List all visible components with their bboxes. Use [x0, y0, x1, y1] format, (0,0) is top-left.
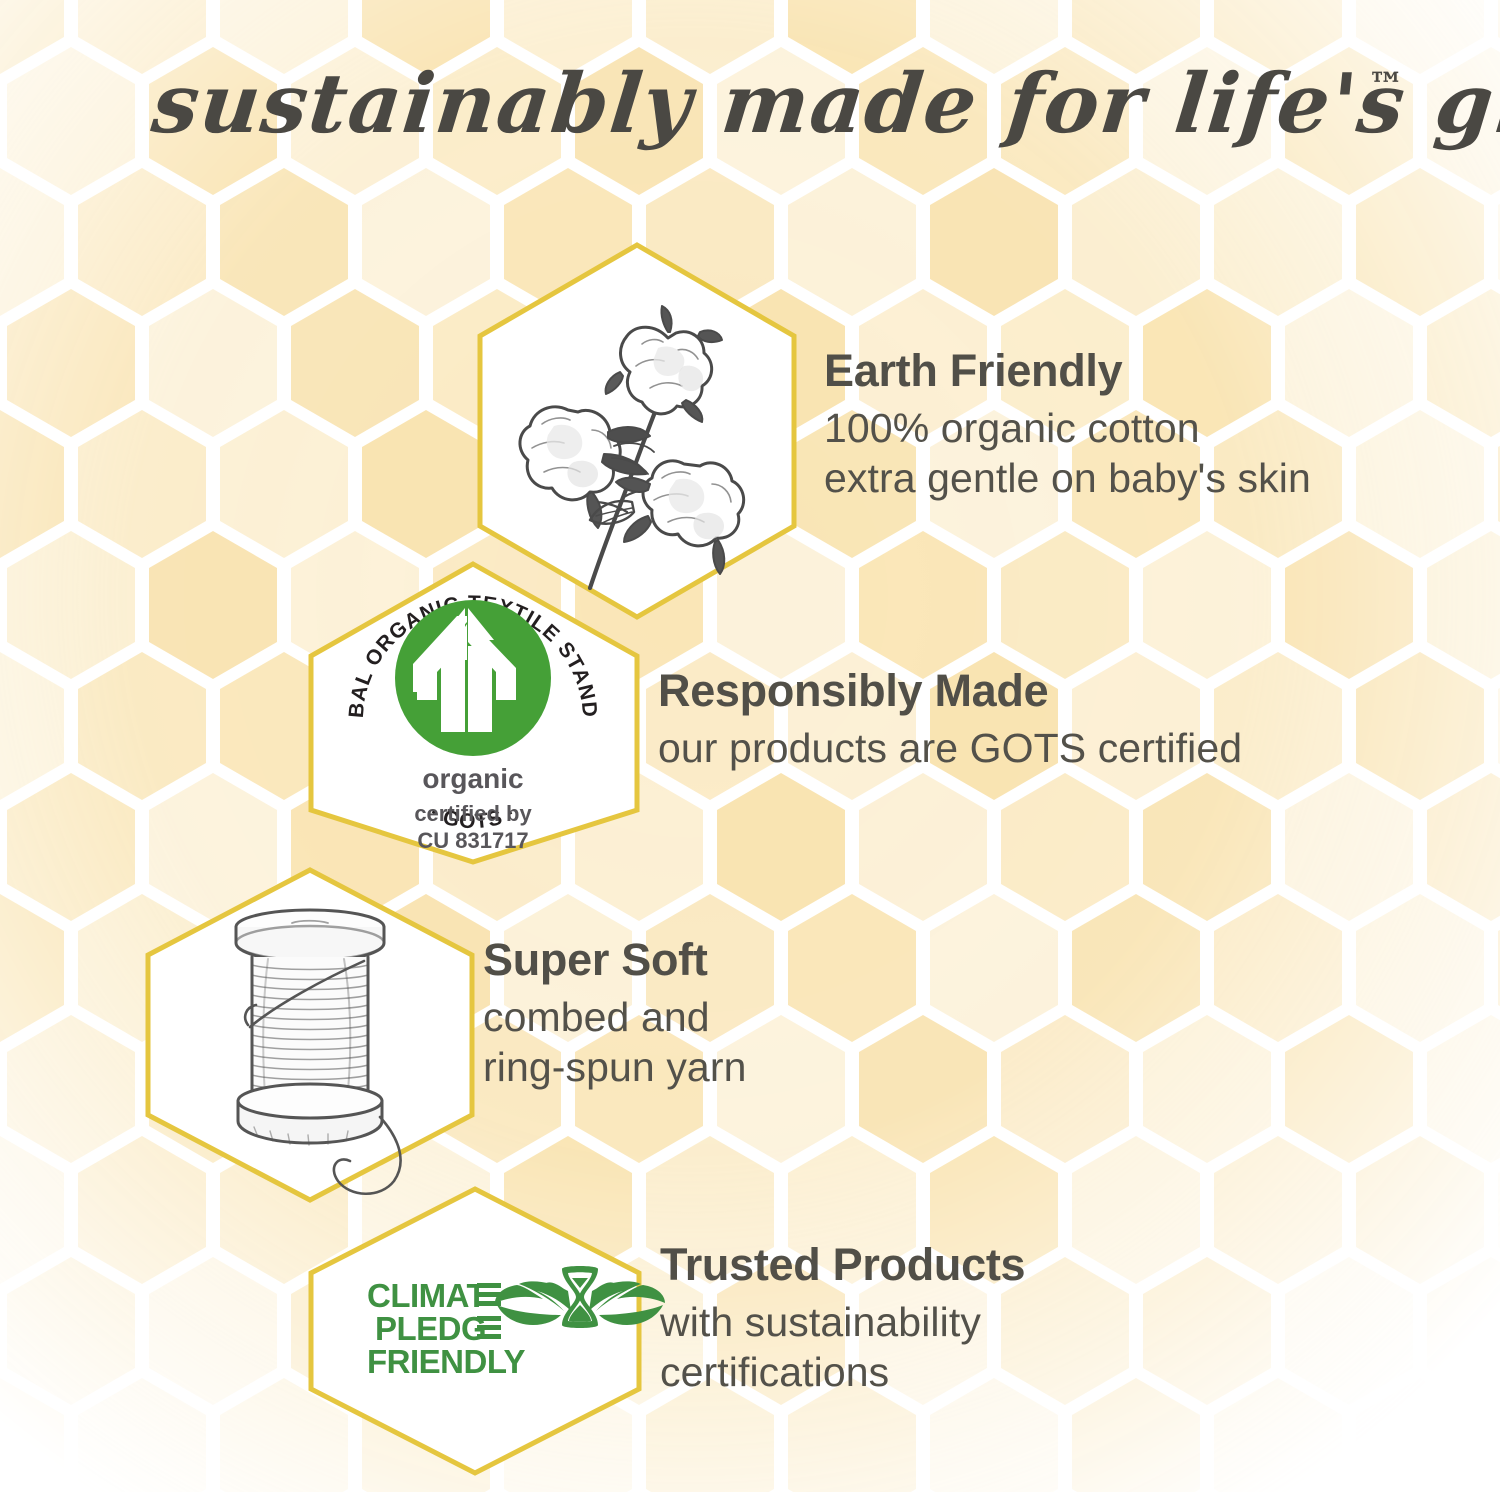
hexagon-card-spool: [142, 865, 478, 1205]
honeycomb-cell: [1356, 410, 1484, 558]
honeycomb-cell: [7, 289, 135, 437]
feature-line: extra gentle on baby's skin: [824, 453, 1311, 503]
honeycomb-cell: [1143, 531, 1271, 679]
honeycomb-cell: [1072, 168, 1200, 316]
honeycomb-cell: [149, 289, 277, 437]
honeycomb-cell: [1427, 289, 1500, 437]
feature-title: Trusted Products: [660, 1242, 1025, 1287]
honeycomb-cell: [0, 652, 64, 800]
honeycomb-cell: [1214, 168, 1342, 316]
honeycomb-cell: [1001, 531, 1129, 679]
feature-text-responsibly-made: Responsibly Made our products are GOTS c…: [658, 668, 1242, 773]
trademark-symbol: ™: [1368, 65, 1404, 107]
feature-line: with sustainability: [660, 1297, 1025, 1347]
feature-line: certifications: [660, 1347, 1025, 1397]
feature-line: ring-spun yarn: [483, 1042, 746, 1092]
honeycomb-cell: [7, 1015, 135, 1163]
honeycomb-cell: [220, 168, 348, 316]
cpf-line-1: CLIMAT: [367, 1277, 487, 1314]
feature-line: 100% organic cotton: [824, 403, 1311, 453]
cpf-line-3: FRIENDLY: [367, 1343, 525, 1380]
honeycomb-cell: [78, 410, 206, 558]
honeycomb-cell: [1143, 1257, 1271, 1405]
honeycomb-cell: [362, 410, 490, 558]
feature-title: Responsibly Made: [658, 668, 1242, 713]
feature-title: Earth Friendly: [824, 348, 1311, 393]
honeycomb-cell: [7, 531, 135, 679]
honeycomb-cell: [1427, 1015, 1500, 1163]
honeycomb-cell: [1427, 531, 1500, 679]
honeycomb-cell: [1356, 1136, 1484, 1284]
feature-text-earth-friendly: Earth Friendly 100% organic cotton extra…: [824, 348, 1311, 503]
feature-text-super-soft: Super Soft combed and ring-spun yarn: [483, 937, 746, 1092]
honeycomb-cell: [0, 894, 64, 1042]
honeycomb-cell: [78, 1378, 206, 1492]
honeycomb-cell: [149, 1257, 277, 1405]
honeycomb-cell: [1356, 652, 1484, 800]
cpf-line-2: PLEDG: [375, 1310, 486, 1347]
honeycomb-cell: [1143, 1015, 1271, 1163]
gots-certifier-code: CU 831717: [417, 828, 528, 853]
honeycomb-cell: [717, 773, 845, 921]
honeycomb-cell: [930, 168, 1058, 316]
page-headline: sustainably made for life's greatest joy…: [0, 36, 1500, 166]
honeycomb-cell: [291, 289, 419, 437]
honeycomb-cell: [1214, 894, 1342, 1042]
honeycomb-cell: [149, 531, 277, 679]
honeycomb-cell: [1285, 531, 1413, 679]
honeycomb-cell: [0, 168, 64, 316]
honeycomb-cell: [0, 1378, 64, 1492]
honeycomb-cell: [1427, 773, 1500, 921]
honeycomb-cell: [859, 531, 987, 679]
honeycomb-cell: [0, 410, 64, 558]
honeycomb-cell: [1285, 1257, 1413, 1405]
honeycomb-cell: [930, 894, 1058, 1042]
feature-title: Super Soft: [483, 937, 746, 982]
gots-certified-by-label: certified by: [414, 801, 532, 826]
honeycomb-cell: [1072, 894, 1200, 1042]
honeycomb-cell: [788, 168, 916, 316]
honeycomb-cell: [1285, 1015, 1413, 1163]
headline-text: sustainably made for life's greatest joy: [147, 56, 1500, 152]
honeycomb-cell: [1427, 1257, 1500, 1405]
honeycomb-cell: [1214, 1136, 1342, 1284]
hexagon-card-gots: GLOBAL ORGANIC TEXTILE STANDARD · GOTS ·: [305, 560, 641, 866]
hexagon-card-climate-pledge: CLIMAT PLEDG FRIENDLY: [305, 1185, 645, 1477]
feature-line: combed and: [483, 992, 746, 1042]
honeycomb-cell: [1072, 1136, 1200, 1284]
honeycomb-cell: [1356, 894, 1484, 1042]
honeycomb-cell: [859, 1015, 987, 1163]
honeycomb-cell: [1143, 773, 1271, 921]
honeycomb-cell: [7, 773, 135, 921]
honeycomb-cell: [7, 1257, 135, 1405]
honeycomb-cell: [1356, 168, 1484, 316]
honeycomb-cell: [1356, 1378, 1484, 1492]
honeycomb-cell: [1214, 1378, 1342, 1492]
honeycomb-cell: [1285, 773, 1413, 921]
honeycomb-cell: [1001, 773, 1129, 921]
honeycomb-cell: [362, 168, 490, 316]
sustainability-infographic: sustainably made for life's greatest joy…: [0, 0, 1500, 1492]
honeycomb-cell: [859, 773, 987, 921]
honeycomb-cell: [78, 652, 206, 800]
honeycomb-cell: [0, 1136, 64, 1284]
feature-line: our products are GOTS certified: [658, 723, 1242, 773]
honeycomb-cell: [78, 168, 206, 316]
feature-text-trusted-products: Trusted Products with sustainability cer…: [660, 1242, 1025, 1397]
honeycomb-cell: [788, 894, 916, 1042]
honeycomb-cell: [1001, 1015, 1129, 1163]
honeycomb-cell: [220, 410, 348, 558]
gots-organic-label: organic: [422, 763, 523, 794]
honeycomb-cell: [1072, 1378, 1200, 1492]
